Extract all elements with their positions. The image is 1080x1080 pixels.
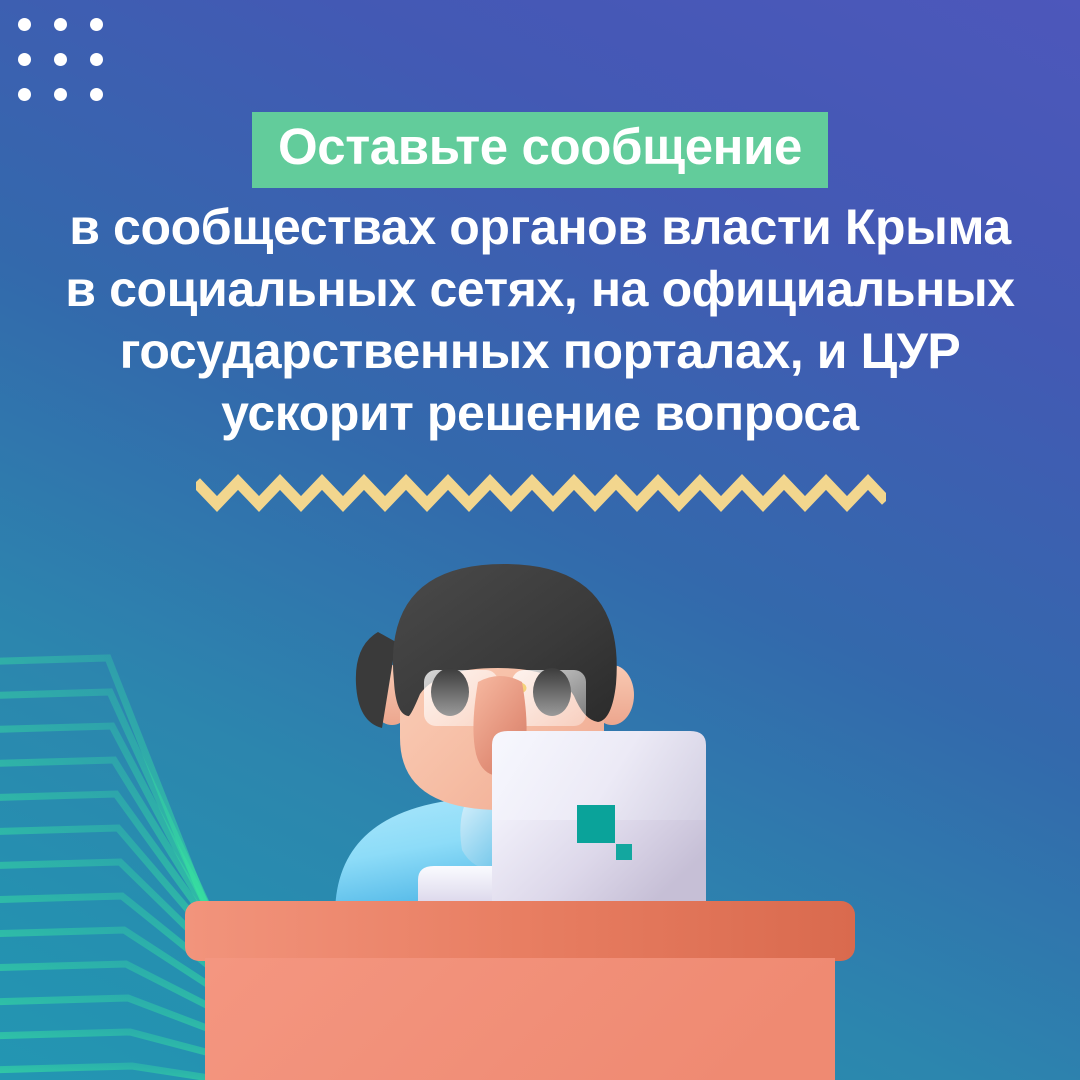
- headline-body-line-3: государственных порталах, и ЦУР: [0, 320, 1080, 382]
- eye-left: [431, 668, 469, 716]
- dot: [18, 18, 31, 31]
- dot: [90, 53, 103, 66]
- headline-body-line-2: в социальных сетях, на официальных: [0, 258, 1080, 320]
- desk-top: [185, 901, 855, 961]
- eye-right: [533, 668, 571, 716]
- headline-body-line-4: ускорит решение вопроса: [0, 382, 1080, 444]
- headline-block: Оставьте сообщение в сообществах органов…: [0, 112, 1080, 444]
- dot-grid-decoration: [10, 10, 106, 102]
- dot: [18, 88, 31, 101]
- poster-root: Оставьте сообщение в сообществах органов…: [0, 0, 1080, 1080]
- zigzag-svg: [196, 472, 886, 516]
- dot: [90, 18, 103, 31]
- dot: [54, 53, 67, 66]
- laptop-square-logo: [577, 805, 615, 843]
- zigzag-divider: [196, 472, 886, 516]
- headline-body-line-1: в сообществах органов власти Крыма: [0, 196, 1080, 258]
- man-at-laptop-illustration: [0, 520, 1080, 1080]
- dot: [54, 88, 67, 101]
- headline-highlight: Оставьте сообщение: [252, 112, 828, 188]
- illustration-svg: [0, 520, 1080, 1080]
- headline-body: в сообществах органов власти Крыма в соц…: [0, 196, 1080, 444]
- dot: [90, 88, 103, 101]
- desk-front: [205, 958, 835, 1080]
- laptop-square-logo-small: [616, 844, 632, 860]
- dot: [18, 53, 31, 66]
- dot: [54, 18, 67, 31]
